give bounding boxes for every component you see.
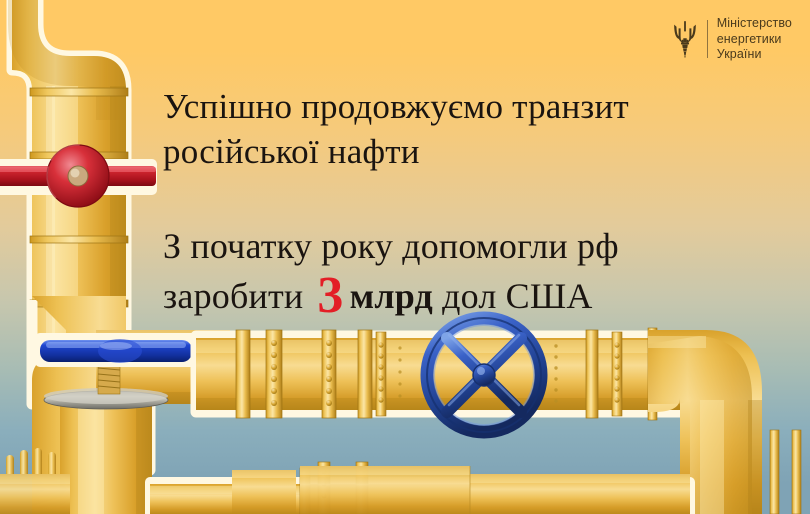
poster-canvas: Міністерство енергетики України Успішно …: [0, 0, 810, 514]
ministry-logo-line-3: України: [717, 47, 792, 63]
ministry-logo-line-2: енергетики: [717, 32, 792, 48]
amount-unit: млрд: [350, 276, 433, 316]
subline-suffix-text: дол США: [442, 276, 593, 316]
ministry-logo-text: Міністерство енергетики України: [717, 16, 792, 63]
subline-paragraph: З початку року допомогли рф заробити3млр…: [163, 221, 783, 321]
logo-divider: [707, 20, 708, 58]
subline-suffix: [433, 276, 442, 316]
amount-value: 3: [303, 267, 349, 324]
headline-paragraph: Успішно продовжуємо транзит російської н…: [163, 84, 783, 174]
subline-line-1: З початку року допомогли рф: [163, 221, 783, 271]
red-gate-valve-handle[interactable]: [0, 134, 156, 219]
ministry-logo-line-1: Міністерство: [717, 16, 792, 32]
poster-text-block: Успішно продовжуємо транзит російської н…: [163, 84, 783, 321]
headline-line-1: Успішно продовжуємо транзит: [163, 84, 783, 129]
subline-prefix: заробити: [163, 276, 303, 316]
bottom-horizontal-pipe-group: [150, 462, 690, 514]
headline-line-2: російської нафти: [163, 129, 783, 174]
subline-line-2: заробити3млрд дол США: [163, 271, 783, 321]
ministry-logo: Міністерство енергетики України: [672, 16, 792, 63]
ukraine-trident-icon: [672, 19, 698, 59]
